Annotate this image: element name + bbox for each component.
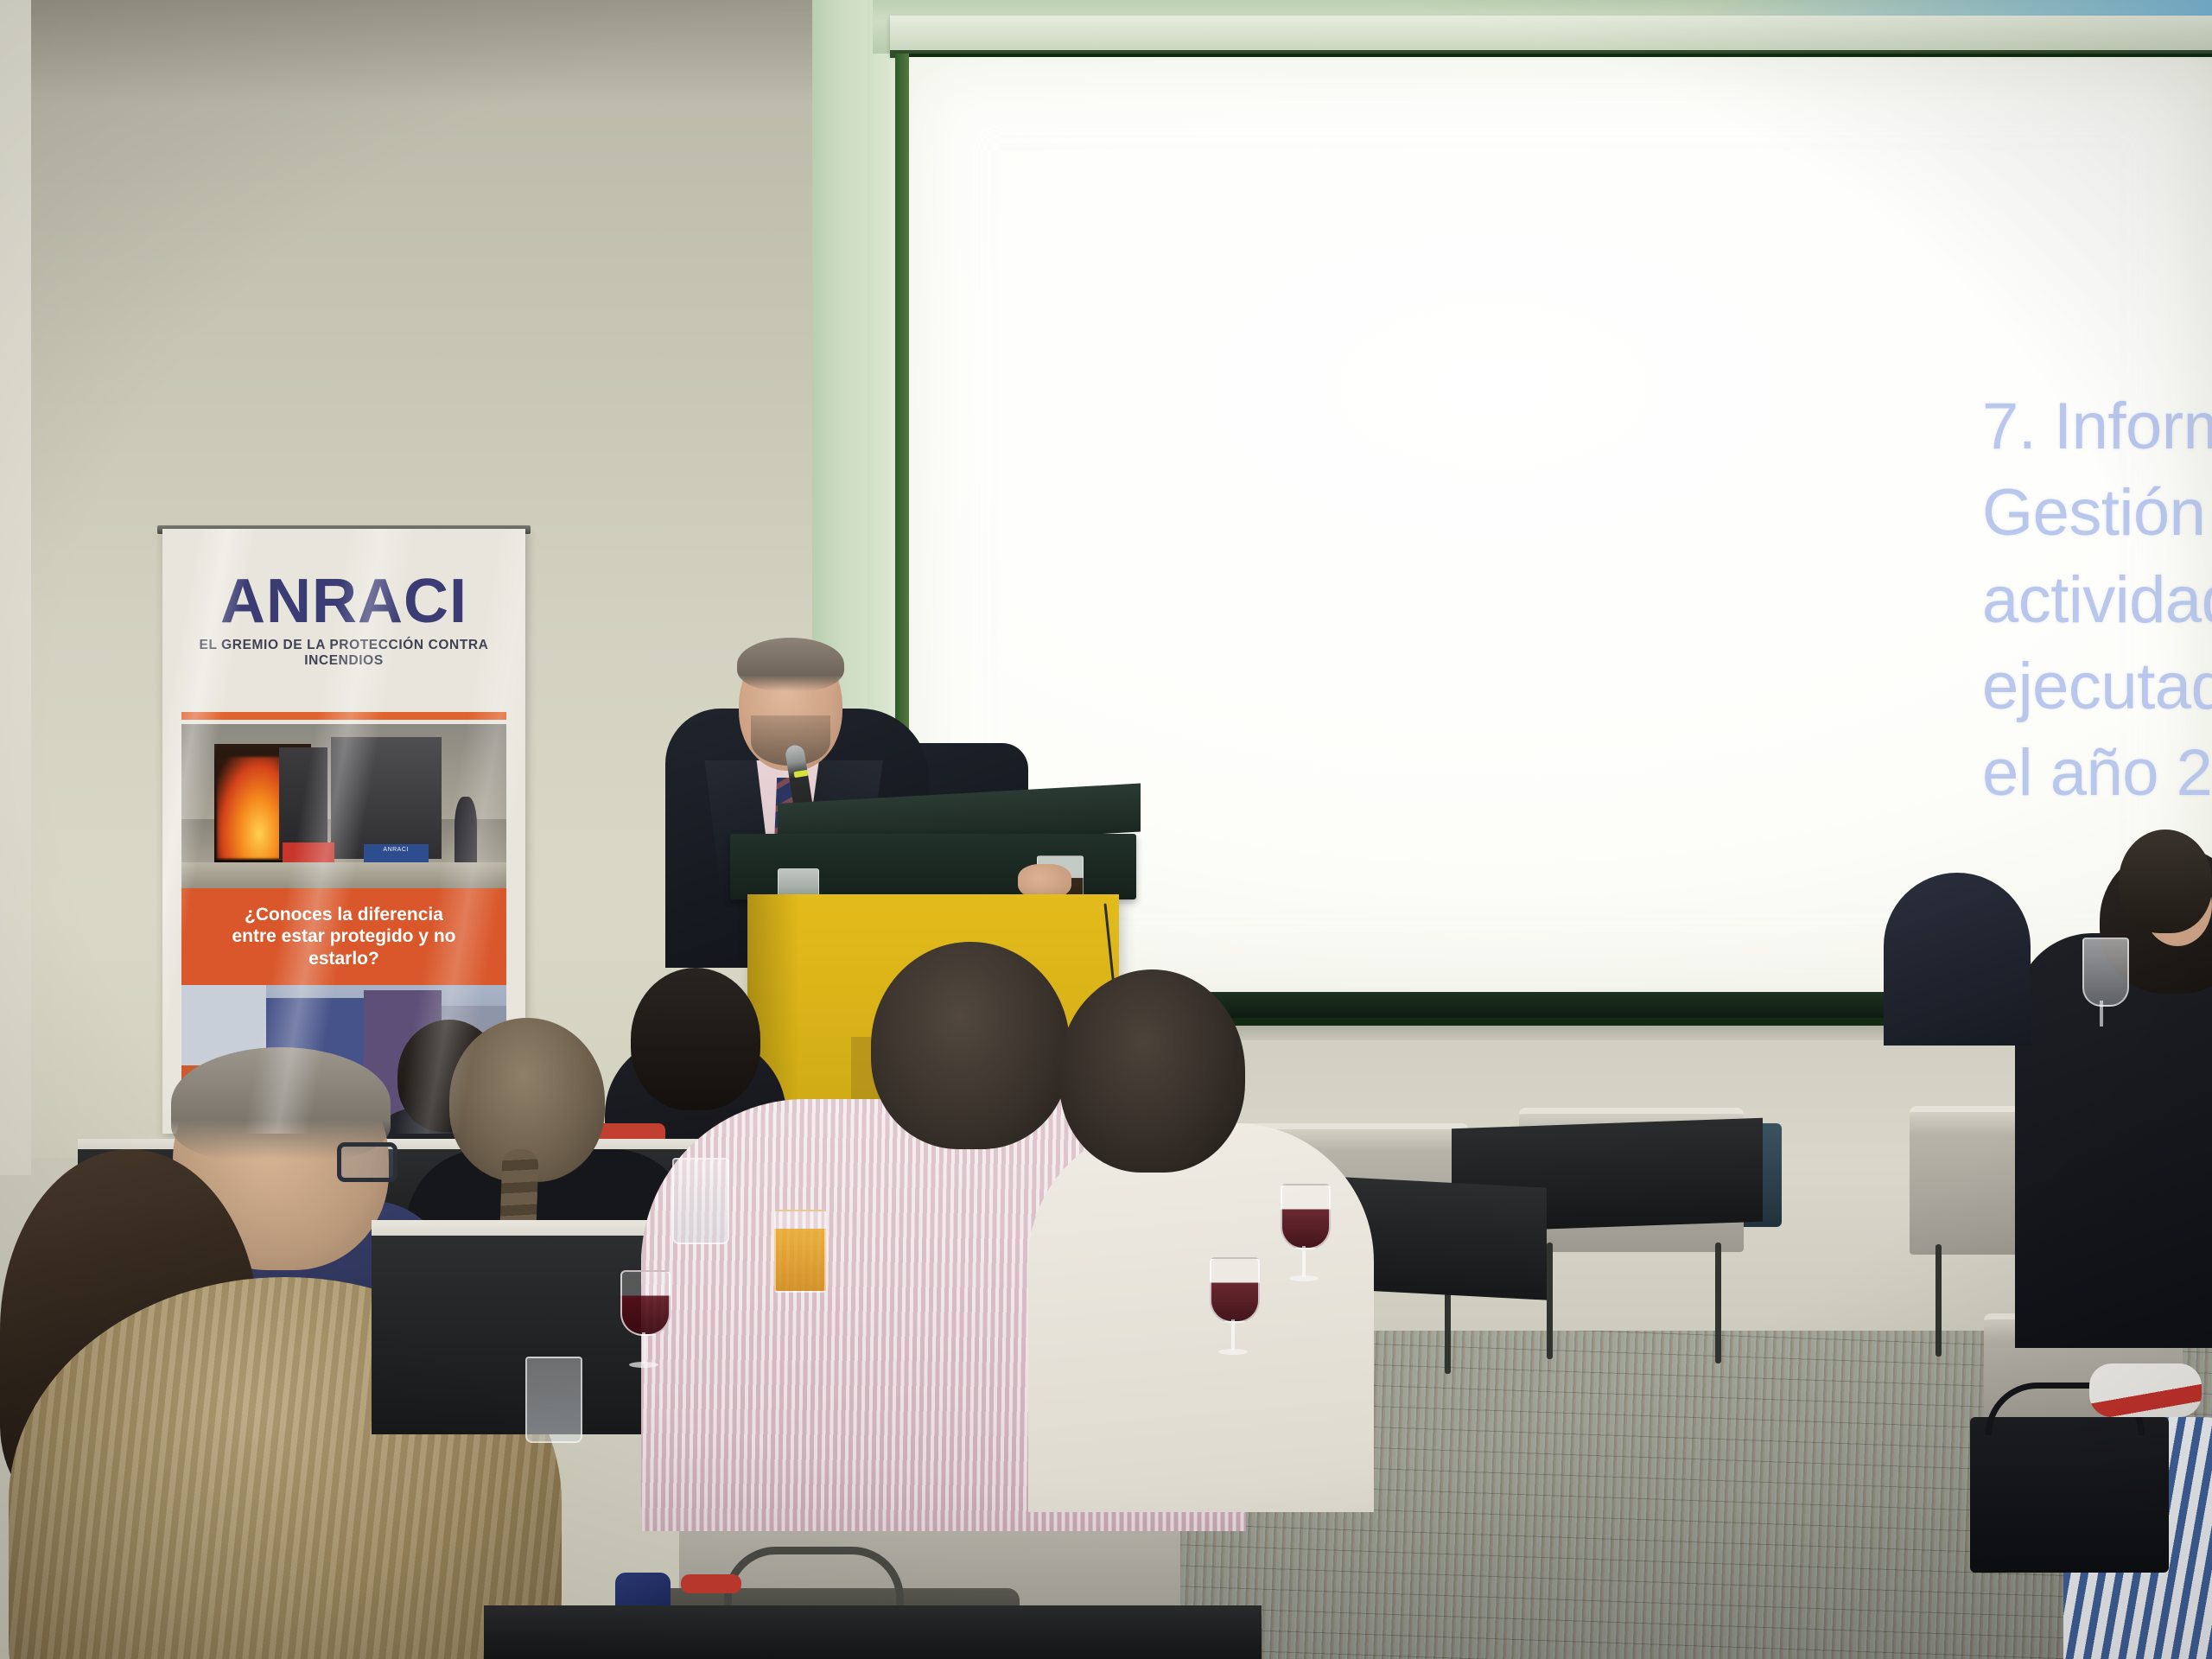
wine-glass-foot (629, 1362, 658, 1368)
wine-glass-bowl (620, 1270, 671, 1336)
slide-line-1: 7. Informe de (1982, 384, 2212, 470)
speaker-right-hand (1018, 864, 1071, 899)
wine-glass-foot (1289, 1275, 1319, 1281)
photo-protected-structure (331, 737, 442, 859)
banner-headline-line-3: estarlo? (308, 949, 379, 969)
ceiling-shadow (0, 0, 873, 104)
attendee-back-dark-head (631, 968, 760, 1110)
chair-leg-back-3a (1935, 1244, 1942, 1357)
handbag (1970, 1417, 2169, 1573)
slide-line-4: ejecutadas durante (1982, 644, 2212, 730)
projection-screen-roller (890, 16, 2212, 54)
wine-glass-foot (1218, 1349, 1248, 1355)
banner-logo-block: ANRACI EL GREMIO DE LA PROTECCIÓN CONTRA… (162, 570, 525, 669)
chair-leg-back-2a (1547, 1243, 1553, 1359)
photo-blue-sign-text: ANRACI (364, 844, 429, 855)
wine-glass-stem (1231, 1319, 1235, 1351)
slide-line-2: Gestión de las (1982, 470, 2212, 556)
speaker-hair (737, 638, 844, 691)
photo-blue-sign: ANRACI (364, 844, 429, 862)
banner-tagline: EL GREMIO DE LA PROTECCIÓN CONTRA INCEND… (162, 638, 525, 669)
backpack-handle (724, 1547, 904, 1606)
wine-glass-1 (620, 1270, 667, 1374)
photo-red-sign (283, 842, 334, 862)
attendee-right-wine-glass (2082, 938, 2129, 1007)
wine-glass-bowl (1210, 1257, 1260, 1323)
table-foreground (484, 1605, 1262, 1659)
attendee-right-wine-stem (2100, 1001, 2103, 1027)
banner-headline-band: ¿Conoces la diferencia entre estar prote… (181, 888, 506, 985)
slide-line-3: actividades (1982, 557, 2212, 644)
banner-headline-line-2: entre estar protegido y no (232, 926, 455, 946)
attendee-right-back-torso (1884, 873, 2031, 1046)
attendee-pink-shirt-head (871, 942, 1070, 1149)
handbag-red-white-item (2089, 1363, 2202, 1417)
photo-ground (181, 862, 506, 888)
banner-logo-text: ANRACI (162, 570, 525, 632)
banner-orange-rule (181, 712, 506, 720)
backpack-red-strap (681, 1574, 741, 1593)
eyeglasses-icon (337, 1142, 397, 1182)
wine-glass-stem (642, 1332, 645, 1363)
chair-leg-back-2b (1715, 1243, 1721, 1363)
left-wall-edge (0, 0, 31, 1175)
attendee-right-back-head (2119, 829, 2212, 933)
attendee-light-shirt-head (1059, 969, 1245, 1173)
water-glass-1 (525, 1357, 582, 1443)
slide-line-5: el año 2022 (1982, 730, 2212, 817)
photo-firefighter (454, 797, 477, 869)
juice-glass-1 (774, 1210, 826, 1293)
banner-fire-demo-photo: ANRACI (181, 724, 506, 888)
wine-glass-2 (1210, 1257, 1256, 1361)
conference-room-photo: 7. Informe de Gestión de las actividades… (0, 0, 2212, 1659)
water-glass-2 (672, 1158, 729, 1244)
banner-headline-line-1: ¿Conoces la diferencia (245, 905, 443, 925)
slide-text-block: 7. Informe de Gestión de las actividades… (1982, 384, 2212, 817)
banner-headline-text: ¿Conoces la diferencia entre estar prote… (225, 904, 462, 970)
